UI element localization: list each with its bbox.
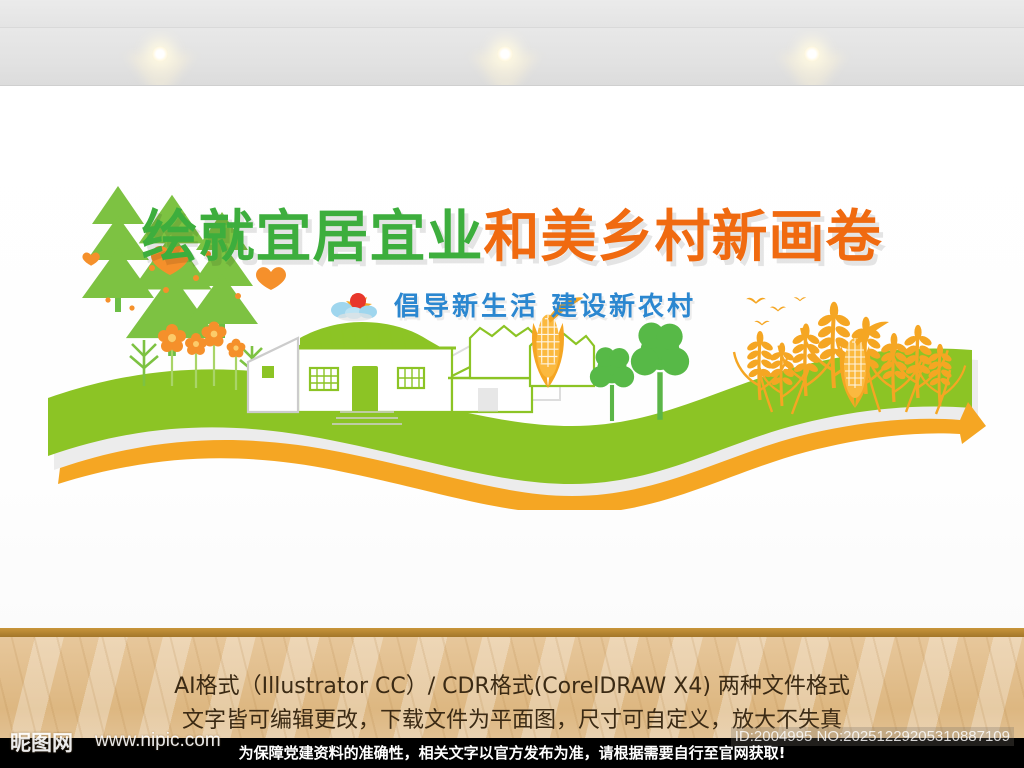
spotlight-bulb [152, 46, 168, 62]
wall-mural: 绘就宜居宜业和美乡村新画卷 倡导新生活 建设新农村 [0, 150, 1024, 510]
watermark-url: www.nipic.com [95, 730, 221, 752]
round-tree-large [631, 323, 689, 420]
format-info-line-1: AI格式（Illustrator CC）/ CDR格式(CorelDRAW X4… [0, 668, 1024, 700]
spotlight-bulb [497, 46, 513, 62]
title-green-text: 绘就宜居宜业 [142, 205, 484, 270]
sun-cloud-icon [328, 288, 380, 322]
watermark-logo: 昵图网 [10, 727, 73, 757]
ceiling-light-rail [0, 28, 1024, 86]
spotlight-left [152, 46, 168, 62]
round-tree-small [590, 347, 634, 421]
spotlight-right [804, 46, 820, 62]
mural-title: 绘就宜居宜业和美乡村新画卷 [0, 210, 1024, 266]
watermark-id: ID:2004995 NO:20251229205310887109 [731, 727, 1014, 746]
mural-illustration [0, 150, 1024, 510]
spotlight-center [497, 46, 513, 62]
floor-trim [0, 628, 1024, 637]
title-orange-text: 和美乡村新画卷 [484, 205, 883, 270]
mural-subtitle-row: 倡导新生活 建设新农村 [0, 286, 1024, 323]
ceiling [0, 0, 1024, 28]
spotlight-bulb [804, 46, 820, 62]
mural-subtitle-text: 倡导新生活 建设新农村 [394, 286, 696, 323]
